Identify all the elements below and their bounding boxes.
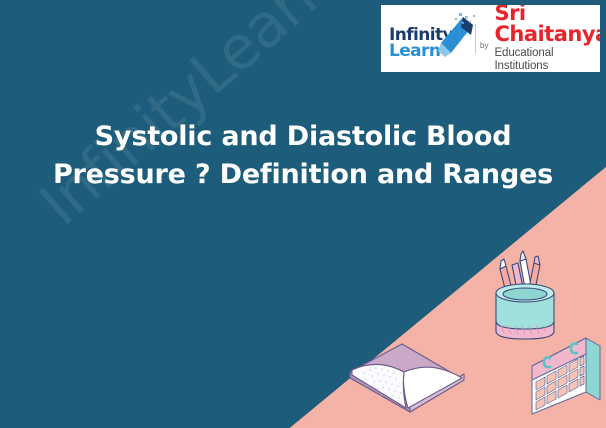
- logo-lockup[interactable]: Infinity Learn by Sri Chaitanya Educ: [381, 5, 600, 72]
- desk-calendar-illustration: [528, 322, 606, 420]
- infinity-learn-line2: Learn: [389, 41, 440, 61]
- sri-chaitanya-name: Sri Chaitanya: [494, 5, 600, 46]
- infinity-learn-logo: Infinity Learn: [381, 5, 475, 72]
- logo-connector-label: by: [478, 27, 492, 50]
- poster-canvas: InfinityLearn.com Infinity Learn by: [0, 0, 606, 428]
- arrow-swoosh-icon: [435, 13, 479, 59]
- sri-chaitanya-logo: Sri Chaitanya Educational Institutions: [492, 5, 600, 72]
- page-title: Systolic and Diastolic Blood Pressure ? …: [0, 118, 606, 195]
- sri-chaitanya-subtitle: Educational Institutions: [494, 47, 600, 72]
- open-book-illustration: [344, 328, 470, 424]
